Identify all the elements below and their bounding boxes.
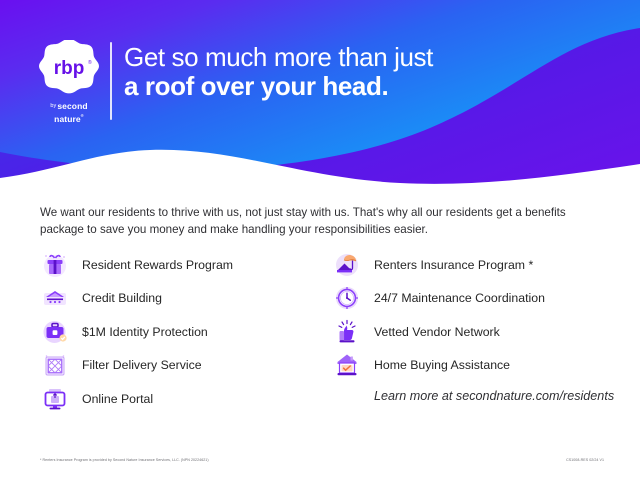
benefit-item: Home Buying Assistance — [332, 349, 632, 383]
vertical-divider — [110, 42, 112, 120]
benefit-label: $1M Identity Protection — [82, 325, 208, 339]
benefit-label: Credit Building — [82, 291, 162, 305]
thumbs-up-icon — [332, 317, 362, 347]
headline-line-2: a roof over your head. — [124, 72, 433, 101]
bank-building-icon — [40, 283, 70, 313]
logo-second-text: second — [57, 101, 87, 111]
benefit-item: Filter Delivery Service — [40, 349, 330, 383]
hero-banner: rbp ® bysecond nature® Get so much more … — [0, 0, 640, 190]
svg-text:®: ® — [88, 59, 92, 66]
benefit-label: Resident Rewards Program — [82, 258, 233, 272]
briefcase-shield-icon — [40, 317, 70, 347]
logo-by-text: by — [50, 103, 56, 109]
benefit-item: Vetted Vendor Network — [332, 315, 632, 349]
benefit-label: Renters Insurance Program * — [374, 258, 533, 272]
benefit-item: Renters Insurance Program * — [332, 248, 632, 282]
benefit-label: Vetted Vendor Network — [374, 325, 500, 339]
rbp-logo-mark: rbp ® — [38, 40, 100, 96]
house-check-icon — [332, 350, 362, 380]
learn-more-text[interactable]: Learn more at secondnature.com/residents — [374, 389, 614, 403]
gift-box-icon — [40, 250, 70, 280]
benefit-label: Online Portal — [82, 392, 153, 406]
benefits-column-left: Resident Rewards Program Credit Building — [40, 248, 330, 416]
benefit-label: 24/7 Maintenance Coordination — [374, 291, 545, 305]
benefit-item: $1M Identity Protection — [40, 315, 330, 349]
desktop-monitor-icon — [40, 384, 70, 414]
intro-paragraph: We want our residents to thrive with us,… — [40, 204, 595, 238]
benefit-label: Home Buying Assistance — [374, 358, 510, 372]
document-code: CS1008-RES 02/24 V1 — [566, 458, 604, 462]
benefit-item: Resident Rewards Program — [40, 248, 330, 282]
umbrella-house-icon — [332, 250, 362, 280]
benefit-item: Credit Building — [40, 282, 330, 316]
headline-line-1: Get so much more than just — [124, 43, 433, 72]
air-filter-icon — [40, 350, 70, 380]
benefits-column-right: Renters Insurance Program * 24/7 Mainten… — [332, 248, 632, 382]
benefit-item: Online Portal — [40, 382, 330, 416]
rbp-wordmark: rbp — [54, 58, 85, 79]
headline: Get so much more than just a roof over y… — [124, 43, 433, 101]
logo-subtitle: bysecond nature® — [50, 101, 87, 124]
clock-icon — [332, 283, 362, 313]
benefit-label: Filter Delivery Service — [82, 358, 202, 372]
logo-nature-text: nature — [54, 114, 81, 124]
legal-footnote: * Renters Insurance Program is provided … — [40, 458, 209, 462]
logo-registered-mark: ® — [81, 113, 84, 118]
benefit-item: 24/7 Maintenance Coordination — [332, 282, 632, 316]
rbp-logo: rbp ® bysecond nature® — [33, 40, 105, 124]
